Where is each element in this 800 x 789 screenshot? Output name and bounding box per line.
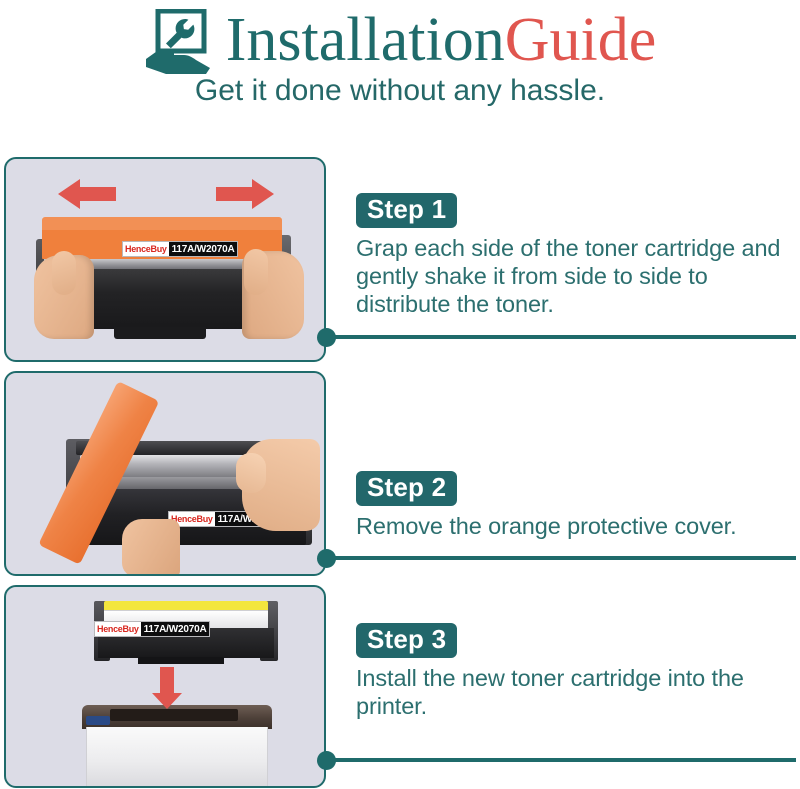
step-3-connector-dot — [317, 751, 336, 770]
printer-body — [86, 727, 268, 788]
step-1-text-block: Step 1 Grap each side of the toner cartr… — [356, 193, 796, 318]
cartridge-label-model: 117A/W2070A — [169, 242, 238, 256]
cartridge-foot — [138, 657, 224, 664]
hand-holding-wrench-icon — [144, 9, 220, 75]
title-row: InstallationGuide — [0, 4, 800, 76]
step-2-description: Remove the orange protective cover. — [356, 513, 796, 541]
page-title-main: Installation — [226, 6, 505, 74]
printer-control-panel — [86, 716, 110, 725]
step-3-image-panel: HenceBuy 117A/W2070A — [4, 585, 326, 788]
arrow-down-icon — [152, 667, 182, 709]
cartridge-label-model: 117A/W2070A — [141, 622, 210, 636]
step-3-badge: Step 3 — [356, 623, 457, 658]
cartridge-label: HenceBuy 117A/W2070A — [122, 241, 238, 257]
step-2-badge: Step 2 — [356, 471, 457, 506]
step-row-2: HenceBuy 117A/W2070A Step 2 Remove the o… — [0, 371, 800, 576]
step-3-connector-line — [326, 758, 796, 762]
cartridge-label-brand: HenceBuy — [123, 242, 169, 256]
arrow-left-icon — [58, 177, 116, 211]
step-1-image-panel: HenceBuy 117A/W2070A — [4, 157, 326, 362]
left-thumb — [52, 251, 76, 295]
step-row-3: HenceBuy 117A/W2070A Step 3 Install the … — [0, 585, 800, 788]
arrow-right-icon — [216, 177, 274, 211]
step-2-image-panel: HenceBuy 117A/W2070A — [4, 371, 326, 576]
cartridge-label: HenceBuy 117A/W2070A — [94, 621, 210, 637]
cartridge-yellow-strip — [104, 601, 268, 610]
printer-paper-slot — [110, 709, 238, 721]
step-row-1: HenceBuy 117A/W2070A Step 1 Grap each si… — [0, 157, 800, 362]
step-2-text-block: Step 2 Remove the orange protective cove… — [356, 471, 796, 541]
step-2-connector-line — [326, 556, 796, 560]
printer — [82, 705, 272, 788]
step-3-description: Install the new toner cartridge into the… — [356, 665, 796, 720]
right-thumb — [244, 249, 268, 295]
page-title: InstallationGuide — [226, 9, 656, 71]
step-3-text-block: Step 3 Install the new toner cartridge i… — [356, 623, 796, 721]
step-1-badge: Step 1 — [356, 193, 457, 228]
peeling-finger — [236, 453, 266, 493]
step-2-connector-dot — [317, 549, 336, 568]
cartridge-label-brand: HenceBuy — [95, 622, 141, 636]
page-header: InstallationGuide Get it done without an… — [0, 0, 800, 118]
cartridge-foot — [114, 327, 206, 339]
page-title-accent: Guide — [505, 6, 657, 74]
step-1-connector-dot — [317, 328, 336, 347]
gripping-hand — [122, 519, 180, 576]
step-1-connector-line — [326, 335, 796, 339]
page-subtitle: Get it done without any hassle. — [0, 74, 800, 108]
step-1-description: Grap each side of the toner cartridge an… — [356, 235, 796, 318]
